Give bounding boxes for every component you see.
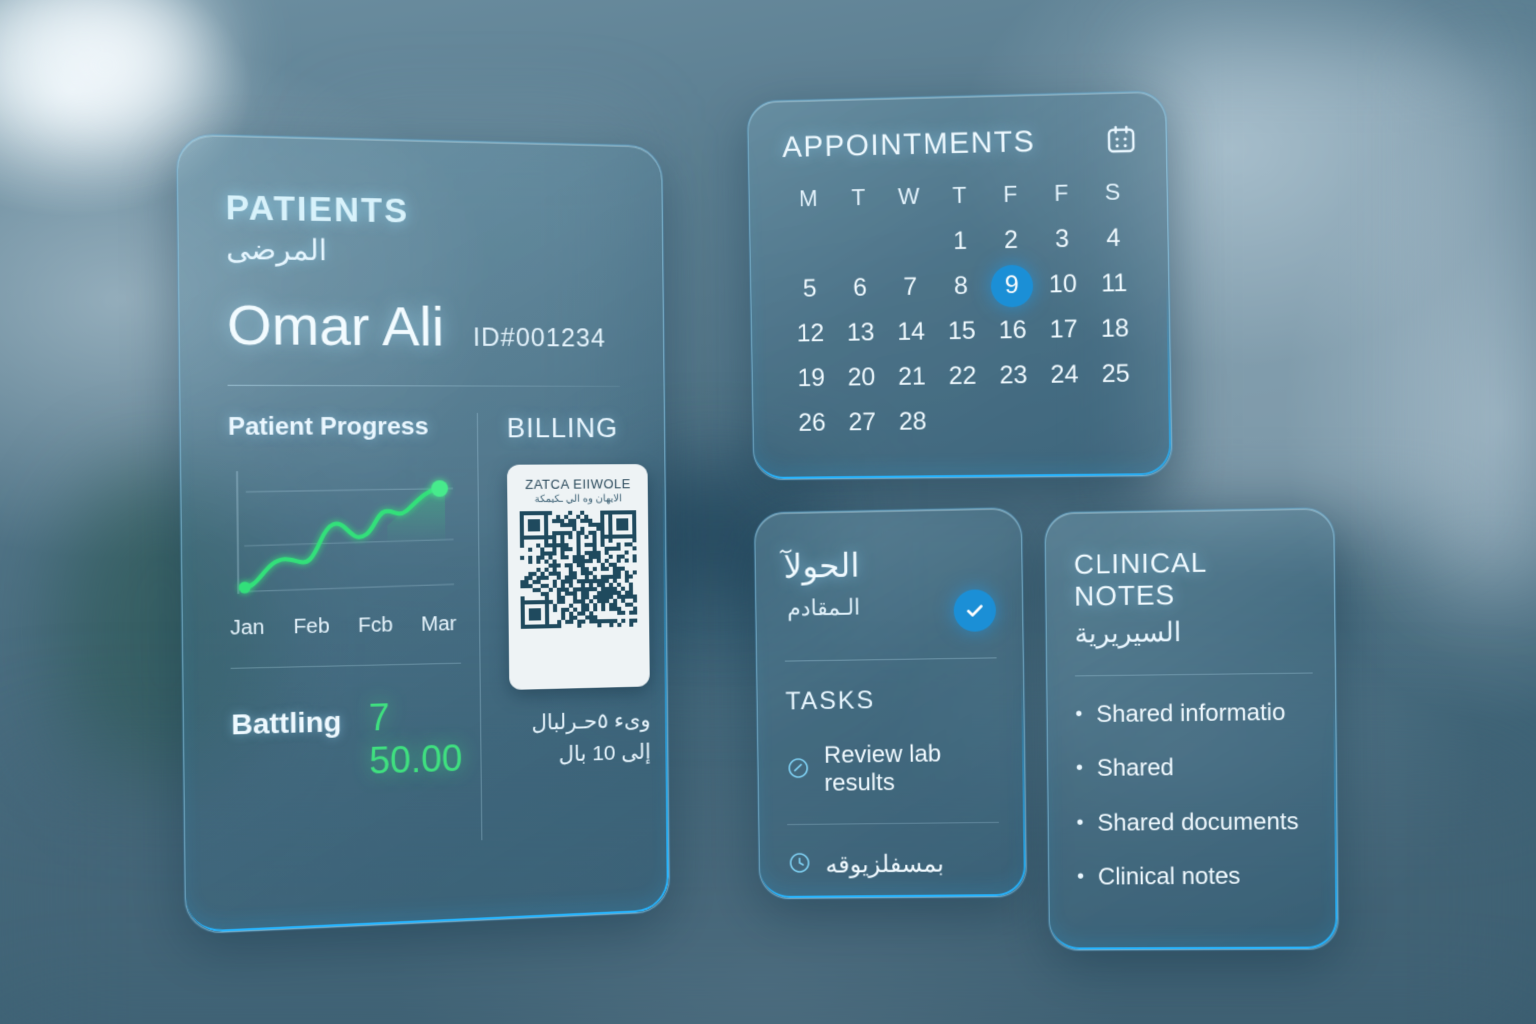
patient-progress-panel: Patient Progress bbox=[228, 413, 482, 850]
calendar-day[interactable]: 18 bbox=[1089, 306, 1141, 352]
appointments-header: APPOINTMENTS bbox=[782, 123, 1138, 168]
divider bbox=[785, 657, 997, 661]
chart-x-axis-labels: Jan Feb Fcb Mar bbox=[230, 613, 457, 641]
calendar-week-row: 1234 bbox=[784, 215, 1140, 267]
calendar-day[interactable]: 28 bbox=[887, 399, 938, 445]
billing-panel: BILLING ZATCA EIIWOLE الايهان وه الي ـكي… bbox=[477, 413, 652, 840]
calendar-day[interactable]: 23 bbox=[988, 353, 1040, 399]
calendar-day[interactable]: 5 bbox=[784, 266, 835, 312]
appointments-card[interactable]: APPOINTMENTS M T W T F F S bbox=[747, 91, 1173, 480]
check-circle-icon[interactable] bbox=[953, 589, 996, 632]
tasks-header: الحولآ الـمقادم bbox=[783, 543, 996, 635]
divider bbox=[787, 822, 999, 825]
calendar-day[interactable]: 19 bbox=[786, 356, 837, 401]
clinical-note-item[interactable]: •Shared documents bbox=[1076, 809, 1314, 837]
calendar-day[interactable]: 4 bbox=[1087, 215, 1139, 261]
calendar-day-empty bbox=[784, 236, 834, 253]
divider bbox=[1075, 673, 1313, 677]
patient-identity-row: Omar Ali ID#001234 bbox=[227, 293, 620, 360]
zatca-qr-card[interactable]: ZATCA EIIWOLE الايهان وه الي ـكيمكة bbox=[507, 464, 650, 690]
calendar-dow: T bbox=[934, 177, 985, 219]
calendar-week-row: 567891011 bbox=[784, 261, 1140, 312]
calendar-day[interactable]: 15 bbox=[936, 309, 988, 355]
clinical-note-label: Shared bbox=[1097, 756, 1174, 783]
clinical-notes-title: CLINICAL NOTES bbox=[1074, 545, 1312, 613]
calendar-day[interactable]: 24 bbox=[1039, 352, 1091, 398]
patients-label-arabic: المرضى bbox=[226, 232, 619, 272]
calendar-day[interactable]: 20 bbox=[836, 355, 887, 401]
calendar-week-row: 19202122232425 bbox=[786, 351, 1142, 401]
calendar-dow: W bbox=[883, 179, 934, 221]
calendar-day[interactable]: 21 bbox=[886, 354, 937, 400]
chart-xtick-3: Mar bbox=[421, 613, 457, 637]
calendar-day[interactable]: 14 bbox=[885, 309, 936, 355]
calendar-day[interactable]: 25 bbox=[1090, 351, 1142, 397]
calendar-dow: F bbox=[984, 176, 1036, 218]
tasks-subtitle-arabic: الـمقادم bbox=[784, 595, 860, 622]
billing-arabic-text: وىء ٥حـرلبال إلى 10 بال bbox=[510, 704, 651, 772]
calendar-day[interactable]: 1 bbox=[934, 218, 986, 264]
calendar-day-selected[interactable]: 9 bbox=[986, 263, 1038, 309]
calendar-day[interactable]: 11 bbox=[1088, 261, 1140, 307]
calendar-day-empty bbox=[884, 234, 935, 251]
calendar-week-row: 262728 bbox=[787, 397, 1143, 446]
divider bbox=[228, 385, 620, 387]
clinical-notes-card[interactable]: CLINICAL NOTES السيريرية •Shared informa… bbox=[1045, 508, 1339, 951]
patients-label: PATIENTS bbox=[225, 188, 618, 234]
patient-name: Omar Ali bbox=[227, 293, 445, 359]
calendar-week-row: 12131415161718 bbox=[785, 306, 1141, 357]
calendar-dow: T bbox=[833, 180, 884, 222]
calendar-day[interactable]: 13 bbox=[835, 310, 886, 356]
chart-xtick-0: Jan bbox=[230, 616, 265, 641]
billing-title: BILLING bbox=[507, 413, 648, 444]
calendar-day[interactable]: 7 bbox=[885, 264, 936, 310]
chart-xtick-2: Fcb bbox=[358, 614, 393, 638]
calendar-day-empty bbox=[1040, 412, 1091, 429]
balance-row: Battling 7 50.00 bbox=[231, 694, 463, 787]
patient-id: ID#001234 bbox=[473, 323, 606, 353]
calendar-dow: F bbox=[1035, 175, 1087, 217]
calendar-day[interactable]: 10 bbox=[1037, 262, 1089, 308]
task-label: بمسفلزيوقه bbox=[825, 850, 944, 880]
calendar-day-empty bbox=[989, 413, 1040, 430]
calendar-day[interactable]: 26 bbox=[787, 401, 838, 446]
qr-subtitle-arabic: الايهان وه الي ـكيمكة bbox=[518, 493, 639, 505]
calendar-day[interactable]: 6 bbox=[834, 265, 885, 311]
clinical-note-item[interactable]: •Clinical notes bbox=[1077, 863, 1315, 891]
clinical-notes-list: •Shared informatio•Shared•Shared documen… bbox=[1075, 700, 1315, 892]
calendar-day[interactable]: 22 bbox=[937, 354, 989, 400]
clinical-note-label: Clinical notes bbox=[1098, 864, 1241, 891]
bullet-icon: • bbox=[1075, 702, 1082, 727]
calendar-dow: M bbox=[783, 181, 834, 223]
patient-panels: Patient Progress bbox=[228, 413, 625, 850]
appointments-title: APPOINTMENTS bbox=[782, 125, 1036, 165]
screen: PATIENTS المرضى Omar Ali ID#001234 Patie… bbox=[0, 0, 1536, 1024]
tasks-card[interactable]: الحولآ الـمقادم TASKS Review lab results bbox=[754, 507, 1027, 899]
patient-eyebrow: PATIENTS المرضى bbox=[225, 188, 618, 271]
tasks-title-arabic: الحولآ bbox=[783, 546, 860, 586]
calendar-day[interactable]: 27 bbox=[837, 400, 888, 445]
calendar-day-headers: M T W T F F S bbox=[783, 174, 1139, 223]
calendar-day[interactable]: 16 bbox=[987, 308, 1039, 354]
calendar-day[interactable]: 8 bbox=[935, 263, 987, 309]
calendar-day[interactable]: 2 bbox=[985, 217, 1037, 263]
check-circle-outline-icon[interactable] bbox=[786, 755, 810, 784]
clinical-note-label: Shared informatio bbox=[1096, 700, 1285, 728]
task-item[interactable]: بمسفلزيوقه bbox=[788, 849, 1000, 880]
calendar-weeks: 1234567891011121314151617181920212223242… bbox=[784, 215, 1143, 446]
patient-progress-chart[interactable] bbox=[228, 464, 460, 611]
calendar-day[interactable]: 3 bbox=[1036, 216, 1088, 262]
billing-arabic-line-1: وىء ٥حـرلبال bbox=[510, 704, 651, 740]
tasks-section-label: TASKS bbox=[785, 684, 997, 716]
qr-code-image bbox=[520, 510, 638, 629]
calendar-day-empty bbox=[834, 235, 885, 252]
clinical-note-label: Shared documents bbox=[1097, 809, 1299, 837]
bullet-icon: • bbox=[1076, 811, 1083, 836]
patient-card[interactable]: PATIENTS المرضى Omar Ali ID#001234 Patie… bbox=[177, 134, 670, 935]
bullet-icon: • bbox=[1077, 865, 1084, 890]
balance-value: 7 50.00 bbox=[368, 694, 462, 783]
progress-line-chart bbox=[228, 464, 460, 611]
task-item[interactable]: Review lab results bbox=[786, 740, 998, 799]
calendar-day[interactable]: 12 bbox=[785, 311, 836, 357]
bullet-icon: • bbox=[1076, 756, 1083, 781]
calendar-day-empty bbox=[1091, 411, 1143, 428]
calendar-day-empty bbox=[938, 413, 989, 430]
patient-progress-title: Patient Progress bbox=[228, 413, 459, 442]
calendar-day[interactable]: 17 bbox=[1038, 307, 1090, 353]
balance-label: Battling bbox=[231, 706, 342, 742]
divider bbox=[231, 663, 462, 669]
clock-circle-outline-icon[interactable] bbox=[788, 851, 812, 880]
clinical-notes-title-arabic: السيريرية bbox=[1074, 615, 1312, 649]
qr-title: ZATCA EIIWOLE bbox=[518, 476, 639, 492]
task-label: Review lab results bbox=[824, 740, 999, 798]
clinical-note-item[interactable]: •Shared bbox=[1076, 754, 1314, 783]
clinical-note-item[interactable]: •Shared informatio bbox=[1075, 700, 1313, 729]
calendar-icon[interactable] bbox=[1105, 123, 1138, 161]
calendar-grid[interactable]: M T W T F F S 12345678910111213141516171… bbox=[783, 174, 1143, 446]
chart-xtick-1: Feb bbox=[293, 615, 330, 639]
billing-arabic-line-2: إلى 10 بال bbox=[510, 736, 651, 772]
calendar-dow: S bbox=[1087, 174, 1139, 216]
